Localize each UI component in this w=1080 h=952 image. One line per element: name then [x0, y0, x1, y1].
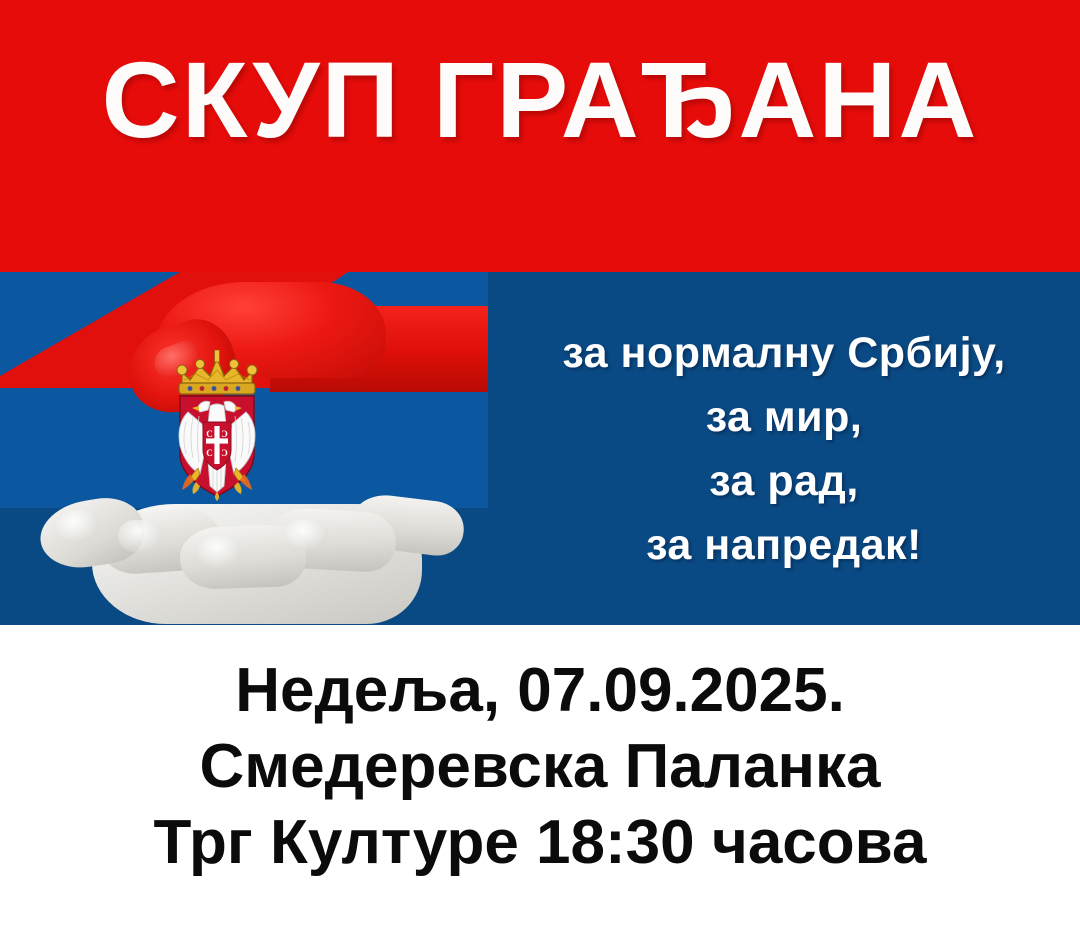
- poster-title: СКУП ГРАЂАНА: [0, 44, 1080, 156]
- lower-hand-nail-3: [284, 520, 328, 550]
- event-venue-time-line: Трг Културе 18:30 часова: [154, 805, 927, 881]
- event-city-line: Смедеревска Паланка: [200, 729, 881, 805]
- lower-hand-white: [30, 492, 470, 625]
- slogan-line-1: за нормалну Србију,: [562, 323, 1005, 383]
- svg-text:С: С: [206, 429, 213, 439]
- lower-hand-nail-1: [118, 520, 164, 552]
- event-poster: СКУП ГРАЂАНА: [0, 0, 1080, 952]
- svg-text:С: С: [221, 429, 228, 439]
- svg-text:С: С: [206, 448, 213, 458]
- slogan-line-3: за рад,: [709, 451, 859, 511]
- poster-midband: С С С С за нормалну Србију, за мир,: [0, 272, 1080, 625]
- event-date-line: Недеља, 07.09.2025.: [235, 653, 845, 729]
- slogan-line-2: за мир,: [706, 387, 863, 447]
- coat-of-arms-svg: С С С С: [166, 350, 268, 502]
- slogan-line-4: за напредак!: [646, 515, 922, 575]
- poster-banner: СКУП ГРАЂАНА: [0, 0, 1080, 272]
- slogan-block: за нормалну Србију, за мир, за рад, за н…: [488, 272, 1080, 625]
- serbian-coat-of-arms: С С С С: [166, 350, 268, 502]
- event-details: Недеља, 07.09.2025. Смедеревска Паланка …: [0, 625, 1080, 952]
- svg-text:С: С: [221, 448, 228, 458]
- lower-hand-nail-2: [198, 536, 242, 568]
- crown-icon: [177, 350, 257, 394]
- handshake-illustration: С С С С: [0, 272, 488, 625]
